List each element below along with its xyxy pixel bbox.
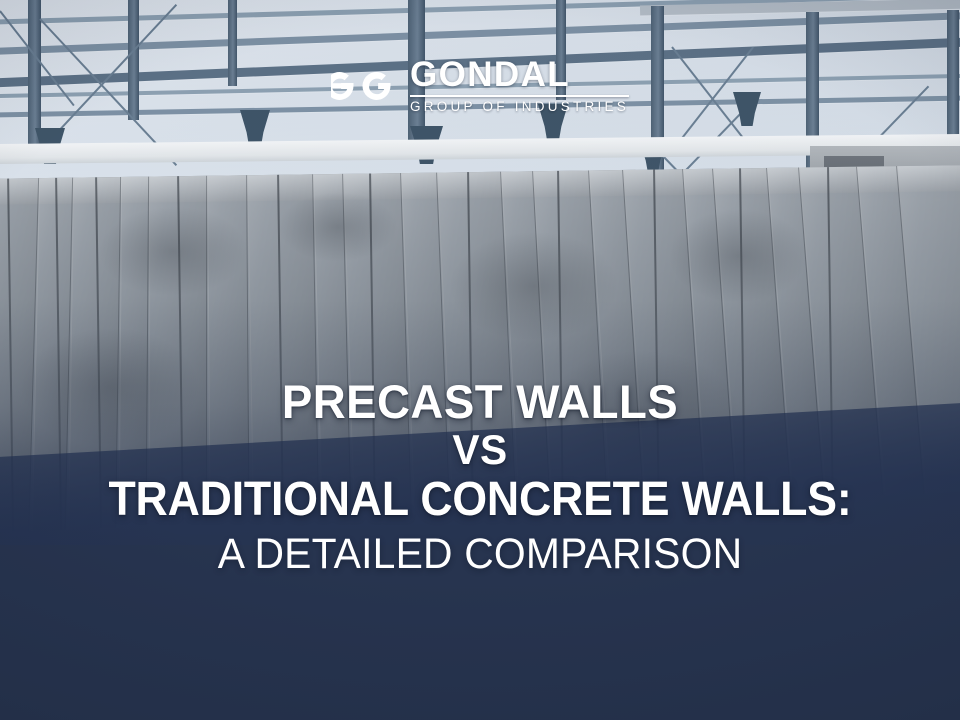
headline-subtitle: A DETAILED COMPARISON [24, 527, 936, 583]
logo-divider-rule [410, 95, 629, 97]
headline-line-1: PRECAST WALLS [14, 378, 945, 427]
brand-tagline: GROUP OF INDUSTRIES [410, 100, 629, 114]
headline-line-2-vs: VS [14, 427, 945, 473]
brand-name: GONDAL [410, 58, 629, 92]
gondal-double-g-monogram-icon [331, 63, 397, 109]
brand-logo: GONDAL GROUP OF INDUSTRIES [0, 58, 960, 113]
promotional-banner: GONDAL GROUP OF INDUSTRIES PRECAST WALLS… [0, 0, 960, 720]
headline-line-3: TRADITIONAL CONCRETE WALLS: [34, 473, 927, 527]
headline-block: PRECAST WALLS VS TRADITIONAL CONCRETE WA… [0, 378, 960, 583]
logo-wordmark: GONDAL GROUP OF INDUSTRIES [410, 58, 629, 113]
